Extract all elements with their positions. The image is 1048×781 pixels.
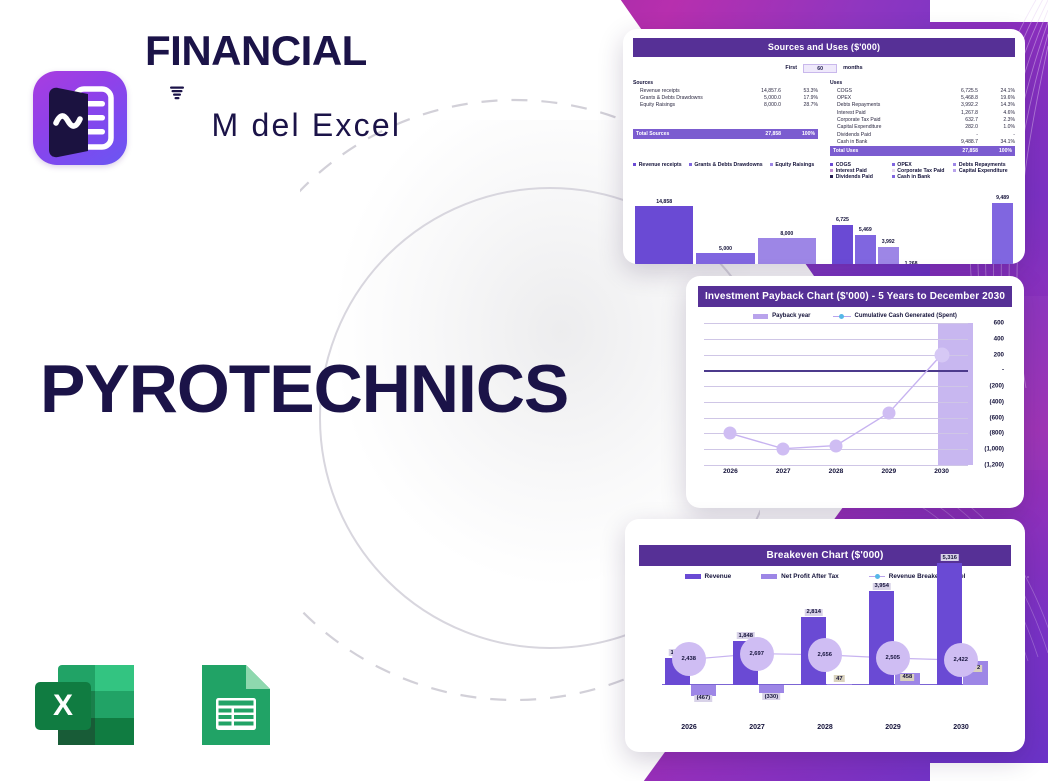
row-value: 3,992.2 bbox=[923, 102, 979, 109]
brand-line-1: FINANCIAL bbox=[145, 30, 401, 72]
legend-item: Payback year bbox=[753, 313, 810, 319]
row-label: Revenue receipts bbox=[633, 87, 726, 94]
x-tick-label: 2028 bbox=[810, 468, 863, 475]
sources-bar-chart: 14,858 5,000 8,000 bbox=[633, 187, 818, 264]
table-row: Equity Raisings8,000.028.7% bbox=[633, 102, 818, 109]
y-tick-label: (800) bbox=[970, 430, 1004, 437]
months-input-prefix: First bbox=[785, 65, 797, 71]
bar-column: 5,469 bbox=[855, 187, 876, 264]
bar-column: 0 bbox=[969, 187, 990, 264]
row-label: OPEX bbox=[830, 94, 923, 101]
bar-value-label: 8,000 bbox=[780, 231, 793, 237]
legend-item: Revenue bbox=[685, 573, 732, 580]
legend-label: Cumulative Cash Generated (Spent) bbox=[855, 313, 957, 319]
panel-sources-title: Sources and Uses ($'000) bbox=[633, 38, 1015, 57]
legend-swatch-icon bbox=[633, 163, 636, 166]
payback-plot: 600 400 200 - (200) (400) (600) (800) (1… bbox=[704, 323, 1004, 465]
row-value: 1,267.8 bbox=[923, 109, 979, 116]
data-point bbox=[882, 406, 895, 419]
revenue-value-label: 3,954 bbox=[872, 583, 891, 590]
total-pct: 100% bbox=[781, 129, 818, 139]
bar-column: 9,489 bbox=[992, 187, 1013, 264]
bar bbox=[635, 206, 693, 264]
legend-swatch-icon bbox=[689, 163, 692, 166]
table-row: Debts Repayments3,992.214.3% bbox=[830, 102, 1015, 109]
row-pct: 28.7% bbox=[781, 102, 818, 109]
y-tick-label: (200) bbox=[970, 383, 1004, 390]
bar-column: 282 bbox=[946, 187, 967, 264]
legend-swatch-icon bbox=[830, 169, 833, 172]
row-pct: 19.6% bbox=[978, 94, 1015, 101]
legend-item: Cumulative Cash Generated (Spent) bbox=[833, 313, 957, 319]
bar-value-label: 1,268 bbox=[905, 261, 918, 264]
payback-legend: Payback year Cumulative Cash Generated (… bbox=[698, 313, 1012, 319]
y-tick-label: 400 bbox=[970, 335, 1004, 342]
legend-item: Equity Raisings bbox=[770, 162, 815, 168]
brand-line-2-text: M del Excel bbox=[212, 107, 402, 143]
x-tick-label: 2028 bbox=[791, 724, 859, 731]
revenue-value-label: 2,814 bbox=[804, 609, 823, 616]
breakeven-group: 5,316 972 2,422 bbox=[934, 586, 995, 716]
row-pct: 14.3% bbox=[978, 102, 1015, 109]
row-pct: 4.6% bbox=[978, 109, 1015, 116]
sources-chart-legend: Revenue receipts Grants & Debts Drawdown… bbox=[633, 162, 818, 168]
uses-total-row: Total Uses27,858100% bbox=[830, 146, 1015, 156]
bar-column: 1,268 bbox=[901, 187, 922, 264]
legend-swatch-icon bbox=[770, 163, 773, 166]
brand-wordmark: FINANCIAL M del Excel bbox=[145, 30, 401, 205]
breakeven-group: 3,954 458 2,505 bbox=[866, 586, 927, 716]
legend-swatch-icon bbox=[830, 163, 833, 166]
row-pct: 1.0% bbox=[978, 124, 1015, 131]
row-label: Debts Repayments bbox=[830, 102, 923, 109]
legend-swatch-icon bbox=[685, 574, 701, 580]
legend-label: Payback year bbox=[772, 313, 810, 319]
bar-column: 14,858 bbox=[635, 187, 693, 264]
legend-label: Capital Expenditure bbox=[959, 168, 1008, 174]
bar-column: 3,992 bbox=[878, 187, 899, 264]
bar-value-label: 9,489 bbox=[996, 195, 1009, 201]
row-label: Cash in Bank bbox=[830, 139, 923, 146]
row-pct: 17.9% bbox=[781, 94, 818, 101]
total-pct: 100% bbox=[978, 146, 1015, 156]
total-value: 27,858 bbox=[726, 129, 782, 139]
breakeven-bubble-label: 2,656 bbox=[808, 638, 842, 672]
file-format-icons: X bbox=[30, 660, 276, 750]
table-row: OPEX5,468.819.6% bbox=[830, 94, 1015, 101]
breakeven-group: 2,814 47 2,656 bbox=[798, 586, 859, 716]
legend-item: Revenue receipts bbox=[633, 162, 682, 168]
row-pct: 53.3% bbox=[781, 87, 818, 94]
total-label: Total Uses bbox=[830, 146, 923, 156]
y-tick-label: (400) bbox=[970, 398, 1004, 405]
bar-column: 633 bbox=[924, 187, 945, 264]
breakeven-x-axis: 2026 2027 2028 2029 2030 bbox=[655, 724, 995, 731]
bar-column: 6,725 bbox=[832, 187, 853, 264]
x-tick-label: 2027 bbox=[723, 724, 791, 731]
months-input-suffix: months bbox=[843, 65, 862, 71]
row-label: Equity Raisings bbox=[633, 102, 726, 109]
row-label: Capital Expenditure bbox=[830, 124, 923, 131]
months-input-row: First 60 months bbox=[633, 64, 1015, 73]
sources-total-row: Total Sources27,858100% bbox=[633, 129, 818, 139]
legend-swatch-icon bbox=[892, 175, 895, 178]
npat-value-label: (330) bbox=[763, 693, 781, 700]
legend-label: Dividends Paid bbox=[836, 174, 873, 180]
table-row: Corporate Tax Paid632.72.3% bbox=[830, 116, 1015, 123]
sources-heading: Sources bbox=[633, 80, 726, 87]
legend-swatch-icon bbox=[830, 175, 833, 178]
bar-column: 8,000 bbox=[758, 187, 816, 264]
legend-swatch-icon bbox=[761, 574, 777, 580]
row-label: Grants & Debts Drawdowns bbox=[633, 94, 726, 101]
x-tick-label: 2030 bbox=[915, 468, 968, 475]
google-sheets-icon[interactable] bbox=[194, 660, 276, 750]
legend-swatch-icon bbox=[892, 163, 895, 166]
row-value: 282.0 bbox=[923, 124, 979, 131]
bar bbox=[992, 203, 1013, 264]
legend-swatch-icon bbox=[953, 163, 956, 166]
breakeven-bubble-label: 2,422 bbox=[944, 643, 978, 677]
data-point bbox=[724, 427, 737, 440]
panel-investment-payback: Investment Payback Chart ($'000) - 5 Yea… bbox=[686, 276, 1024, 508]
legend-label: Net Profit After Tax bbox=[781, 573, 839, 580]
legend-swatch-icon bbox=[753, 314, 768, 319]
revenue-value-label: 5,316 bbox=[940, 554, 959, 561]
table-row: Cash in Bank9,488.734.1% bbox=[830, 139, 1015, 146]
table-row: Revenue receipts14,857.653.3% bbox=[633, 87, 818, 94]
x-tick-label: 2029 bbox=[859, 724, 927, 731]
legend-item: Grants & Debts Drawdowns bbox=[689, 162, 763, 168]
npat-value-label: 458 bbox=[901, 674, 915, 681]
table-row: Dividends Paid-- bbox=[830, 131, 1015, 138]
payback-x-axis: 2026 2027 2028 2029 2030 bbox=[704, 468, 968, 475]
bar bbox=[832, 225, 853, 264]
y-tick-label: (1,200) bbox=[970, 462, 1004, 469]
row-pct: 34.1% bbox=[978, 139, 1015, 146]
breakeven-bubble-label: 2,438 bbox=[672, 642, 706, 676]
row-label: COGS bbox=[830, 87, 923, 94]
legend-label: Grants & Debts Drawdowns bbox=[694, 162, 762, 168]
breakeven-group: 1,140 (467) 2,438 bbox=[662, 586, 723, 716]
row-value: 5,468.8 bbox=[923, 94, 979, 101]
bar bbox=[696, 253, 754, 264]
data-point bbox=[830, 439, 843, 452]
legend-item: Net Profit After Tax bbox=[761, 573, 839, 580]
row-pct: - bbox=[978, 131, 1015, 138]
total-value: 27,858 bbox=[923, 146, 979, 156]
row-pct: 2.3% bbox=[978, 116, 1015, 123]
legend-line-marker-icon bbox=[833, 316, 851, 317]
row-label: Dividends Paid bbox=[830, 131, 923, 138]
row-value: - bbox=[923, 131, 979, 138]
bar-value-label: 5,000 bbox=[719, 246, 732, 252]
uses-bar-chart: 6,725 5,469 3,992 1,268 633 282 0 9,489 bbox=[830, 187, 1015, 264]
legend-swatch-icon bbox=[892, 169, 895, 172]
panel-payback-title: Investment Payback Chart ($'000) - 5 Yea… bbox=[698, 286, 1012, 307]
y-tick-label: - bbox=[970, 367, 1004, 374]
legend-label: Revenue receipts bbox=[639, 162, 682, 168]
legend-label: Revenue bbox=[705, 573, 732, 580]
bar bbox=[758, 238, 816, 264]
row-label: Corporate Tax Paid bbox=[830, 116, 923, 123]
legend-item: Cash in Bank bbox=[892, 174, 954, 180]
bar bbox=[855, 235, 876, 264]
financial-model-logo-icon bbox=[33, 71, 127, 165]
breakeven-group: 1,848 (330) 2,697 bbox=[730, 586, 791, 716]
brand-line-2: M del Excel bbox=[145, 77, 401, 205]
total-label: Total Sources bbox=[633, 129, 726, 139]
npat-value-label: (467) bbox=[695, 695, 713, 702]
microsoft-excel-icon[interactable]: X bbox=[30, 660, 140, 750]
uses-heading: Uses bbox=[830, 80, 923, 87]
table-row: Grants & Debts Drawdowns5,000.017.9% bbox=[633, 94, 818, 101]
row-label: Interest Paid bbox=[830, 109, 923, 116]
bar-column: 5,000 bbox=[696, 187, 754, 264]
svg-text:X: X bbox=[53, 689, 73, 722]
legend-item: Capital Expenditure bbox=[953, 168, 1015, 174]
npat-bar bbox=[827, 684, 851, 685]
row-pct: 24.1% bbox=[978, 87, 1015, 94]
bar-value-label: 3,992 bbox=[882, 239, 895, 245]
cumulative-cash-markers bbox=[704, 323, 968, 465]
x-tick-label: 2029 bbox=[862, 468, 915, 475]
row-value: 9,488.7 bbox=[923, 139, 979, 146]
panel-sources-and-uses: Sources and Uses ($'000) First 60 months… bbox=[623, 29, 1025, 264]
legend-label: Cash in Bank bbox=[897, 174, 930, 180]
table-row: Interest Paid1,267.84.6% bbox=[830, 109, 1015, 116]
breakeven-bubble-label: 2,697 bbox=[740, 637, 774, 671]
row-value: 14,857.6 bbox=[726, 87, 782, 94]
npat-value-label: 47 bbox=[834, 675, 844, 682]
brand-logo: FINANCIAL M del Excel bbox=[33, 30, 401, 205]
y-tick-label: 200 bbox=[970, 351, 1004, 358]
uses-chart-legend: COGS OPEX Debts Repayments Interest Paid… bbox=[830, 162, 1015, 180]
breakeven-bubble-label: 2,505 bbox=[876, 641, 910, 675]
data-point bbox=[934, 347, 949, 362]
months-input[interactable]: 60 bbox=[803, 64, 837, 73]
breakeven-plot: 1,140 (467) 2,438 1,848 (330) 2,697 2,81… bbox=[655, 586, 995, 716]
legend-line-marker-icon bbox=[869, 576, 885, 577]
x-tick-label: 2026 bbox=[704, 468, 757, 475]
bar-value-label: 5,469 bbox=[859, 227, 872, 233]
panel-breakeven: Breakeven Chart ($'000) Revenue Net Prof… bbox=[625, 519, 1025, 752]
npat-bar bbox=[759, 685, 783, 693]
brand-glyph-icon bbox=[167, 84, 187, 104]
row-value: 5,000.0 bbox=[726, 94, 782, 101]
y-tick-label: (600) bbox=[970, 414, 1004, 421]
bar-value-label: 6,725 bbox=[836, 217, 849, 223]
x-tick-label: 2027 bbox=[757, 468, 810, 475]
bar-value-label: 14,858 bbox=[656, 199, 672, 205]
x-tick-label: 2030 bbox=[927, 724, 995, 731]
y-tick-label: (1,000) bbox=[970, 446, 1004, 453]
legend-label: Equity Raisings bbox=[775, 162, 814, 168]
row-value: 632.7 bbox=[923, 116, 979, 123]
uses-table: Uses COGS6,725.524.1% OPEX5,468.819.6% D… bbox=[830, 80, 1015, 156]
sources-table: Sources Revenue receipts14,857.653.3% Gr… bbox=[633, 80, 818, 140]
table-row: COGS6,725.524.1% bbox=[830, 87, 1015, 94]
table-row: Capital Expenditure282.01.0% bbox=[830, 124, 1015, 131]
row-value: 8,000.0 bbox=[726, 102, 782, 109]
x-tick-label: 2026 bbox=[655, 724, 723, 731]
legend-item: Dividends Paid bbox=[830, 174, 892, 180]
page-title: PYROTECHNICS bbox=[40, 350, 568, 428]
bar bbox=[878, 247, 899, 264]
legend-swatch-icon bbox=[953, 169, 956, 172]
data-point bbox=[777, 442, 790, 455]
y-tick-label: 600 bbox=[970, 320, 1004, 327]
row-value: 6,725.5 bbox=[923, 87, 979, 94]
